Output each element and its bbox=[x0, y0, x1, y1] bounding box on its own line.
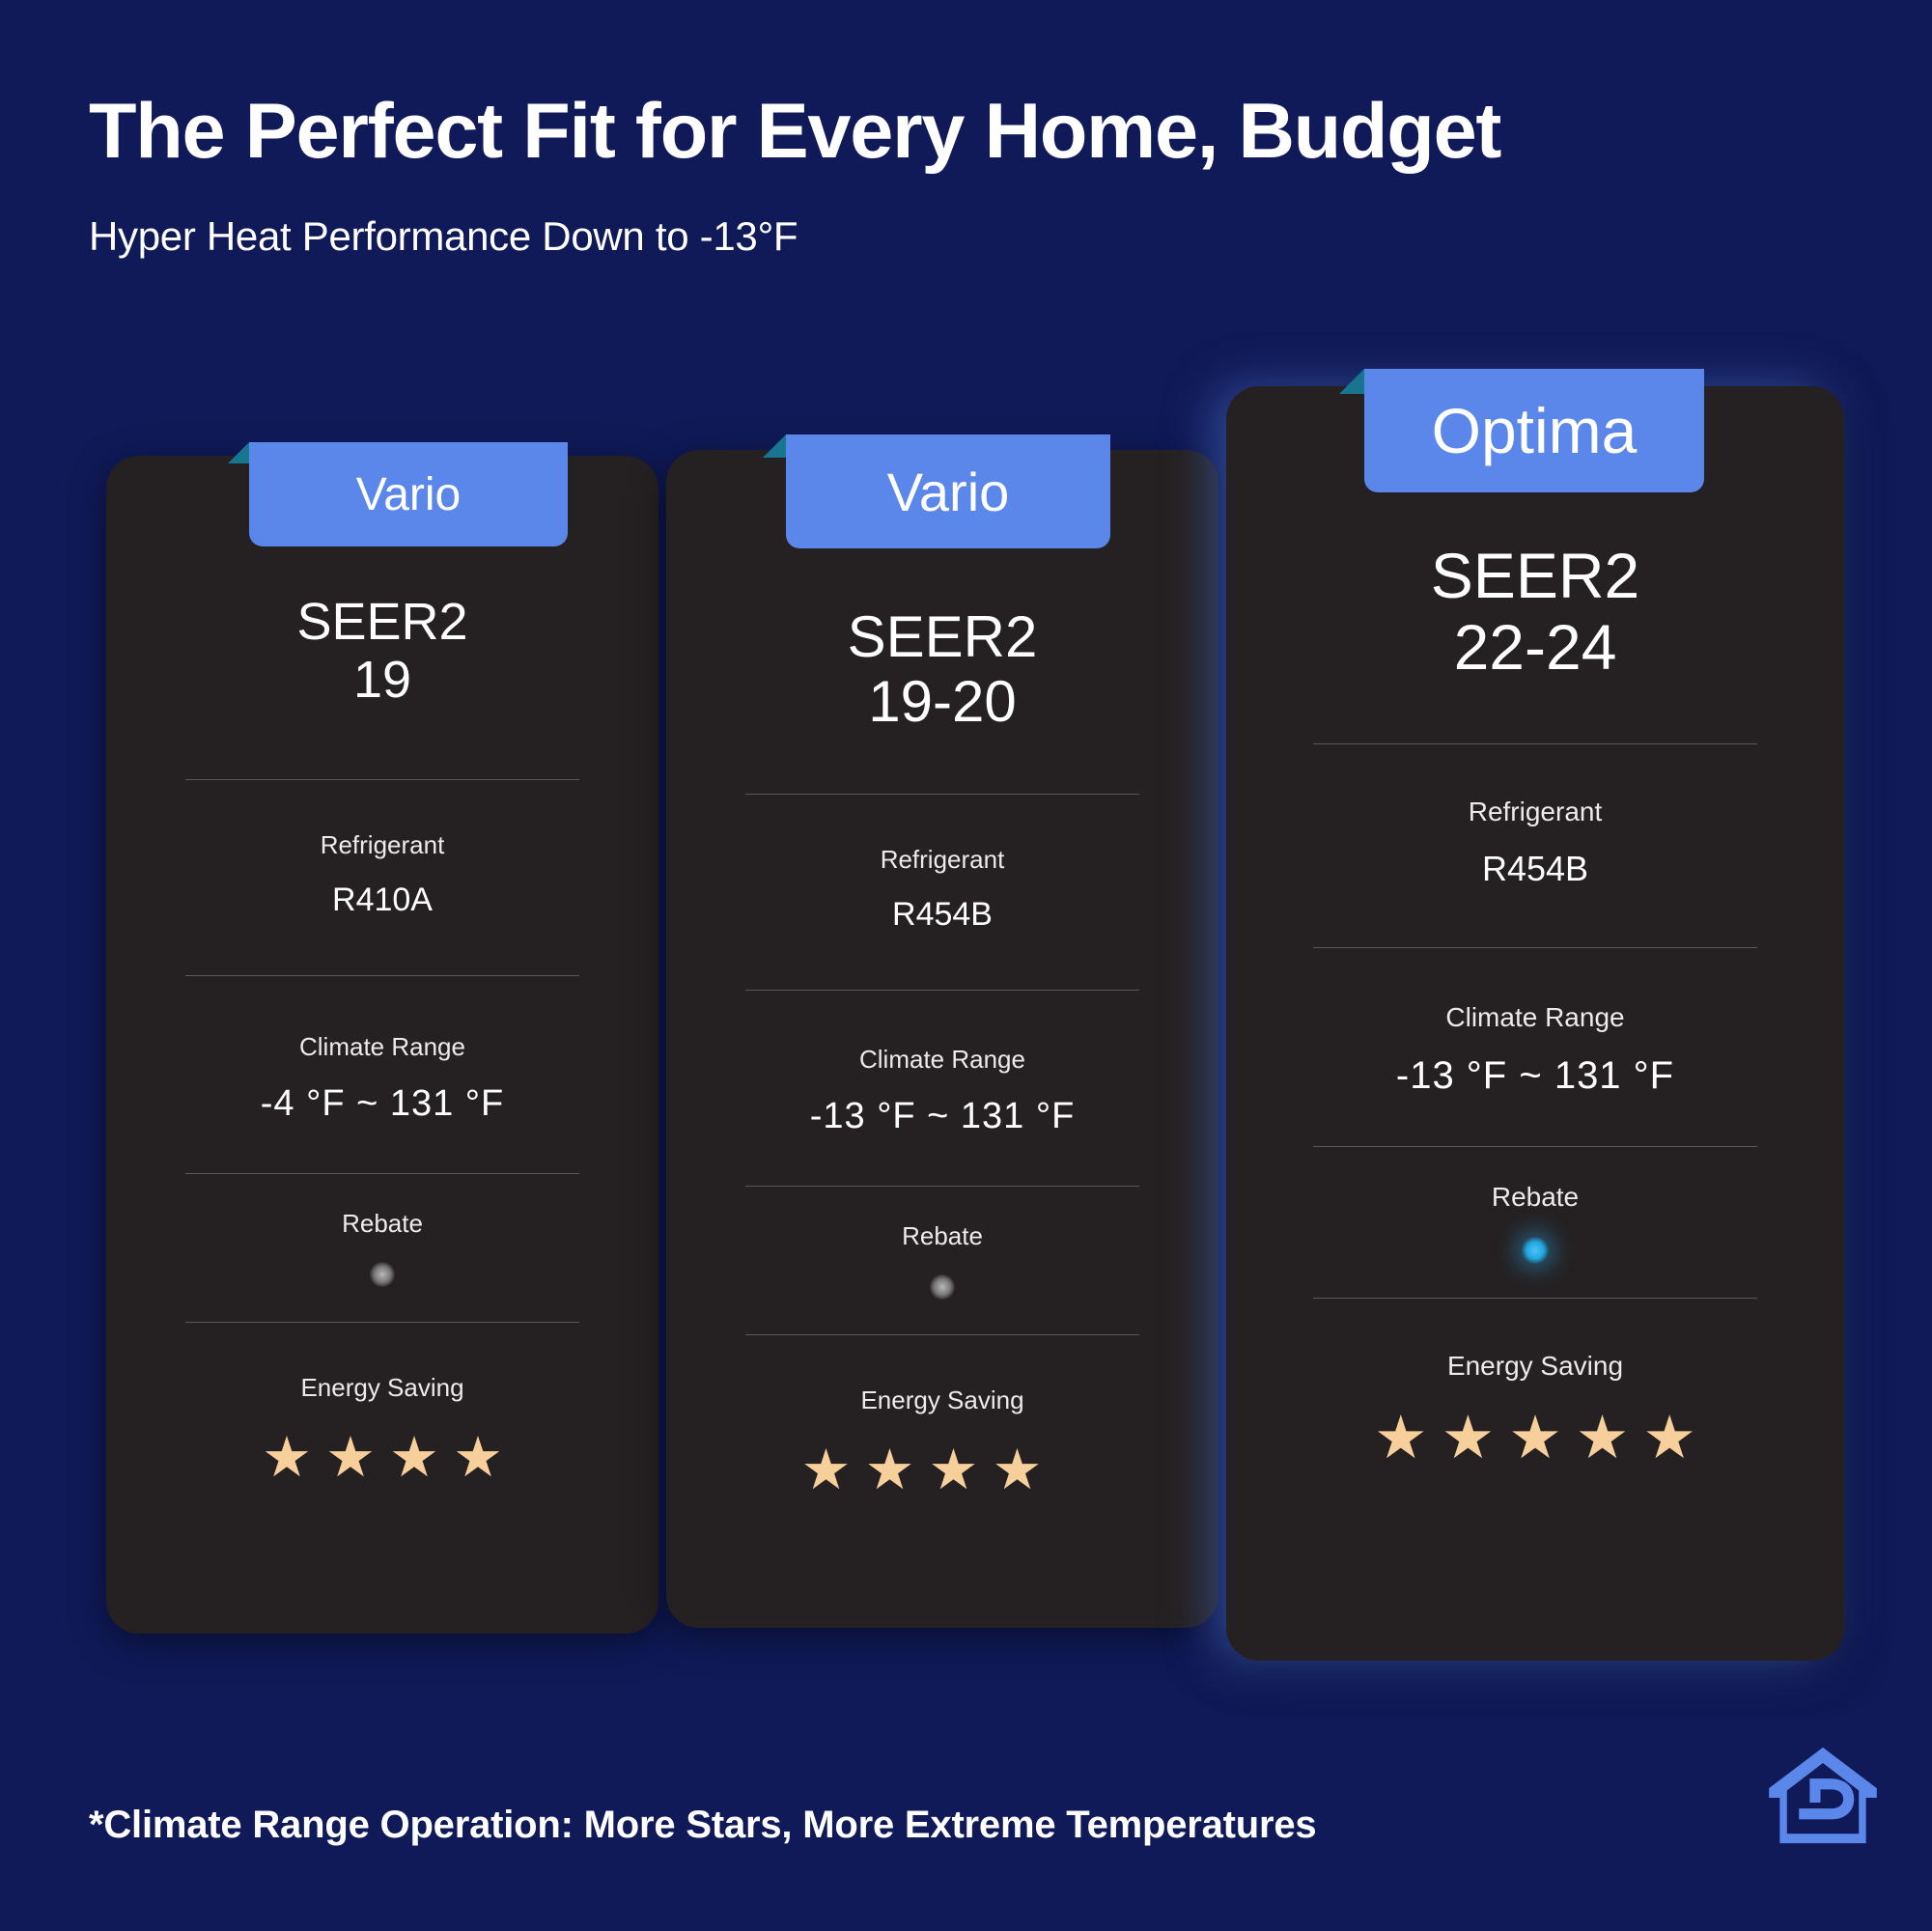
rebate-status-dot bbox=[930, 1274, 955, 1300]
ribbon-fold-left-icon bbox=[763, 434, 786, 458]
divider bbox=[1313, 1298, 1757, 1299]
seer-title: SEER2 bbox=[296, 593, 467, 651]
seer-value: 19-20 bbox=[848, 669, 1038, 734]
ribbon-label: Optima bbox=[1364, 369, 1704, 492]
seer-value: 19 bbox=[296, 651, 467, 709]
spec-label-energy-saving: Energy Saving bbox=[860, 1385, 1023, 1415]
spec-rebate: Rebate bbox=[902, 1221, 983, 1300]
ribbon-fold-right-icon bbox=[1704, 369, 1729, 394]
star-icon: ★ bbox=[389, 1430, 439, 1486]
ribbon-fold-right-icon bbox=[568, 442, 589, 463]
product-card-vario-19-20[interactable]: SEER2 19-20 Refrigerant R454B Climate Ra… bbox=[666, 450, 1218, 1628]
ribbon-badge-optima: Optima bbox=[1339, 369, 1729, 492]
ribbon-fold-left-icon bbox=[228, 442, 249, 463]
seer-block: SEER2 22-24 bbox=[1431, 541, 1639, 684]
star-icon: ★ bbox=[865, 1442, 915, 1498]
spec-label-climate-range: Climate Range bbox=[1396, 1002, 1674, 1033]
star-icon: ★ bbox=[801, 1442, 852, 1498]
spec-climate-range: Climate Range -4 °F ~ 131 °F bbox=[261, 1032, 504, 1125]
star-icon: ★ bbox=[1374, 1409, 1428, 1469]
star-icon: ★ bbox=[453, 1430, 503, 1486]
ribbon-fold-right-icon bbox=[1110, 434, 1134, 458]
divider bbox=[1313, 743, 1757, 744]
spec-label-energy-saving: Energy Saving bbox=[1447, 1351, 1623, 1382]
spec-value-refrigerant: R454B bbox=[881, 896, 1005, 934]
spec-refrigerant: Refrigerant R454B bbox=[1469, 797, 1603, 889]
ribbon-badge-vario-2: Vario bbox=[763, 434, 1134, 548]
spec-label-rebate: Rebate bbox=[342, 1209, 423, 1239]
ribbon-label: Vario bbox=[786, 434, 1110, 548]
seer-value: 22-24 bbox=[1431, 612, 1639, 684]
product-card-optima[interactable]: SEER2 22-24 Refrigerant R454B Climate Ra… bbox=[1226, 386, 1844, 1661]
spec-label-energy-saving: Energy Saving bbox=[300, 1373, 463, 1403]
star-icon: ★ bbox=[993, 1442, 1043, 1498]
divider bbox=[745, 794, 1139, 795]
spec-rebate: Rebate bbox=[1492, 1182, 1579, 1265]
star-icon: ★ bbox=[1508, 1409, 1562, 1469]
divider bbox=[185, 1322, 579, 1323]
star-icon: ★ bbox=[1576, 1409, 1630, 1469]
star-icon: ★ bbox=[1642, 1409, 1696, 1469]
rebate-status-dot bbox=[370, 1262, 395, 1287]
spec-value-climate-range: -13 °F ~ 131 °F bbox=[810, 1096, 1076, 1137]
spec-label-climate-range: Climate Range bbox=[261, 1032, 504, 1062]
divider bbox=[745, 990, 1139, 991]
seer-title: SEER2 bbox=[848, 604, 1038, 669]
spec-value-climate-range: -4 °F ~ 131 °F bbox=[261, 1083, 504, 1125]
spec-rebate: Rebate bbox=[342, 1209, 423, 1287]
energy-saving-star-rating: ★★★★★ bbox=[801, 1442, 1084, 1498]
spec-refrigerant: Refrigerant R454B bbox=[881, 845, 1005, 934]
rebate-status-dot bbox=[1521, 1236, 1550, 1265]
seer-block: SEER2 19 bbox=[296, 593, 467, 710]
spec-energy-saving: Energy Saving bbox=[1447, 1351, 1623, 1382]
divider bbox=[1313, 947, 1757, 948]
spec-label-rebate: Rebate bbox=[1492, 1182, 1579, 1213]
spec-energy-saving: Energy Saving bbox=[300, 1373, 463, 1403]
ribbon-fold-left-icon bbox=[1339, 369, 1364, 394]
product-card-vario-19[interactable]: SEER2 19 Refrigerant R410A Climate Range… bbox=[106, 456, 658, 1634]
spec-value-climate-range: -13 °F ~ 131 °F bbox=[1396, 1054, 1674, 1098]
energy-saving-star-rating: ★★★★★ bbox=[1374, 1409, 1696, 1469]
star-icon: ★ bbox=[929, 1442, 979, 1498]
ribbon-label: Vario bbox=[249, 442, 568, 546]
seer-block: SEER2 19-20 bbox=[848, 604, 1038, 734]
spec-value-refrigerant: R410A bbox=[321, 882, 445, 919]
divider bbox=[185, 975, 579, 976]
divider bbox=[745, 1334, 1139, 1335]
house-logo-icon bbox=[1763, 1738, 1883, 1858]
star-icon: ★ bbox=[325, 1430, 376, 1486]
divider bbox=[185, 779, 579, 780]
spec-label-refrigerant: Refrigerant bbox=[881, 845, 1005, 875]
star-icon: ★ bbox=[262, 1430, 312, 1486]
spec-climate-range: Climate Range -13 °F ~ 131 °F bbox=[1396, 1002, 1674, 1098]
divider bbox=[185, 1173, 579, 1174]
star-icon: ★ bbox=[1442, 1409, 1496, 1469]
footnote-climate-range: *Climate Range Operation: More Stars, Mo… bbox=[89, 1804, 1316, 1847]
spec-climate-range: Climate Range -13 °F ~ 131 °F bbox=[810, 1045, 1076, 1137]
spec-label-rebate: Rebate bbox=[902, 1221, 983, 1251]
spec-energy-saving: Energy Saving bbox=[860, 1385, 1023, 1415]
divider bbox=[745, 1186, 1139, 1187]
spec-value-refrigerant: R454B bbox=[1469, 849, 1603, 889]
ribbon-badge-vario-1: Vario bbox=[228, 442, 589, 546]
divider bbox=[1313, 1146, 1757, 1147]
seer-title: SEER2 bbox=[1431, 541, 1639, 612]
spec-label-climate-range: Climate Range bbox=[810, 1045, 1076, 1075]
spec-label-refrigerant: Refrigerant bbox=[321, 830, 445, 860]
spec-label-refrigerant: Refrigerant bbox=[1469, 797, 1603, 827]
energy-saving-star-rating: ★★★★ bbox=[262, 1430, 503, 1486]
spec-refrigerant: Refrigerant R410A bbox=[321, 830, 445, 919]
product-comparison-cards: SEER2 19 Refrigerant R410A Climate Range… bbox=[0, 0, 1932, 1931]
